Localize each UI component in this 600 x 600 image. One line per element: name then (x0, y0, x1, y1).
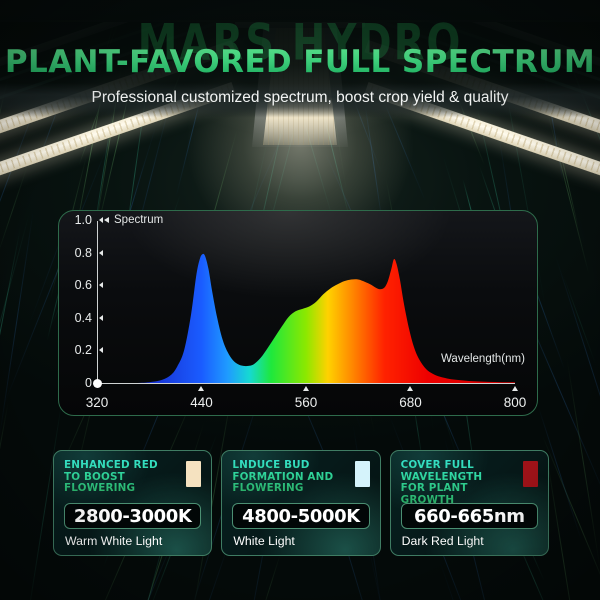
x-axis-tick (407, 386, 413, 391)
card-value: 2800-3000K (74, 506, 192, 527)
page-subtitle: Professional customized spectrum, boost … (0, 89, 600, 107)
x-axis-line (97, 383, 515, 384)
card-value-box: 4800-5000K (232, 503, 369, 529)
y-axis-tick (99, 250, 103, 256)
x-axis-tick-label: 440 (190, 395, 213, 410)
y-axis-tick-label: 1.0 (75, 213, 92, 227)
y-axis-tick-label: 0.4 (75, 311, 92, 325)
y-axis-tick-label: 0 (85, 376, 92, 390)
color-swatch (186, 461, 201, 487)
legend-spectrum: Spectrum (104, 214, 163, 226)
feature-card: LNDUCE BUD FORMATION AND FLOWERING 4800-… (221, 450, 380, 556)
y-axis-tick (99, 282, 103, 288)
card-footer: Warm White Light (65, 534, 162, 548)
y-axis-tick (99, 315, 103, 321)
legend-arrow-icon (104, 217, 109, 223)
card-value-box: 2800-3000K (64, 503, 201, 529)
color-swatch (523, 461, 538, 487)
card-footer: Dark Red Light (402, 534, 484, 548)
x-axis-tick (303, 386, 309, 391)
y-axis-tick-label: 0.8 (75, 246, 92, 260)
card-value: 660-665nm (414, 506, 525, 527)
page-title: PLANT-FAVORED FULL SPECTRUM (0, 44, 600, 80)
legend-label: Spectrum (114, 214, 163, 226)
y-axis-tick (99, 217, 103, 223)
x-axis-title: Wavelength(nm) (441, 353, 525, 365)
spectrum-curve (59, 211, 538, 416)
x-axis-tick-label: 800 (504, 395, 527, 410)
y-axis-tick-label: 0.2 (75, 343, 92, 357)
x-axis-tick (512, 386, 518, 391)
card-heading: COVER FULL WAVELENGTH FOR PLANT GROWTH (401, 460, 509, 506)
feature-cards: ENHANCED RED TO BOOST FLOWERING 2800-300… (53, 450, 549, 556)
x-axis-tick-label: 320 (86, 395, 109, 410)
y-axis-tick (99, 347, 103, 353)
card-heading: LNDUCE BUD FORMATION AND FLOWERING (232, 460, 340, 495)
x-axis-tick-label: 560 (295, 395, 318, 410)
card-value: 4800-5000K (242, 506, 360, 527)
spectrum-plot: 00.20.40.60.81.0 320440560680800 Spectru… (59, 211, 537, 415)
x-axis-tick-label: 680 (399, 395, 422, 410)
feature-card: ENHANCED RED TO BOOST FLOWERING 2800-300… (53, 450, 212, 556)
card-heading: ENHANCED RED TO BOOST FLOWERING (64, 460, 172, 495)
y-axis-line (97, 221, 98, 384)
y-axis-tick-label: 0.6 (75, 278, 92, 292)
feature-card: COVER FULL WAVELENGTH FOR PLANT GROWTH 6… (390, 450, 549, 556)
card-value-box: 660-665nm (401, 503, 538, 529)
x-axis-tick (198, 386, 204, 391)
card-footer: White Light (233, 534, 295, 548)
color-swatch (355, 461, 370, 487)
spectrum-chart-panel: 00.20.40.60.81.0 320440560680800 Spectru… (58, 210, 538, 416)
